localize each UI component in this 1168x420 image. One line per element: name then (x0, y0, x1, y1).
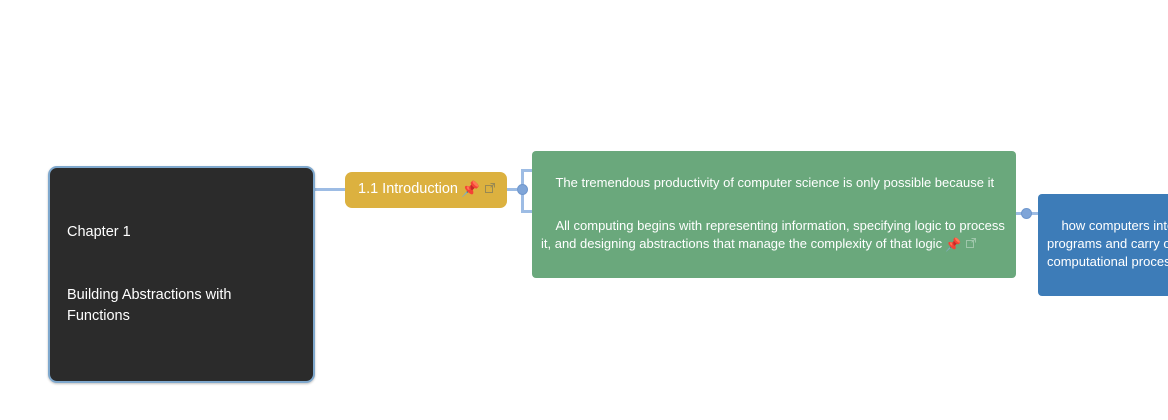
external-link-icon[interactable] (966, 238, 976, 248)
mindmap-note-node-2[interactable]: All computing begins with representing i… (532, 194, 1016, 278)
mindmap-topic-node-introduction[interactable]: 1.1 Introduction📌 (345, 172, 507, 208)
connector-root-to-topic (315, 188, 347, 191)
node-handle-note-2[interactable] (1021, 208, 1032, 219)
node-handle-topic[interactable] (517, 184, 528, 195)
root-title-line-2: Building Abstractions with Functions (67, 285, 297, 327)
note-2-text: All computing begins with representing i… (541, 218, 1009, 251)
pushpin-icon[interactable]: 📌 (461, 181, 480, 198)
pushpin-icon[interactable]: 📌 (945, 237, 961, 252)
external-link-icon[interactable] (485, 183, 495, 193)
mindmap-subnote-node[interactable]: how computers interpret programs and car… (1038, 194, 1168, 296)
topic-label: 1.1 Introduction (358, 181, 458, 197)
mindmap-root-node[interactable]: Chapter 1 Building Abstractions with Fun… (48, 166, 315, 383)
root-title-line-1: Chapter 1 (67, 222, 297, 243)
mindmap-canvas[interactable]: Chapter 1 Building Abstractions with Fun… (0, 0, 1168, 420)
subnote-text: how computers interpret programs and car… (1047, 218, 1168, 269)
